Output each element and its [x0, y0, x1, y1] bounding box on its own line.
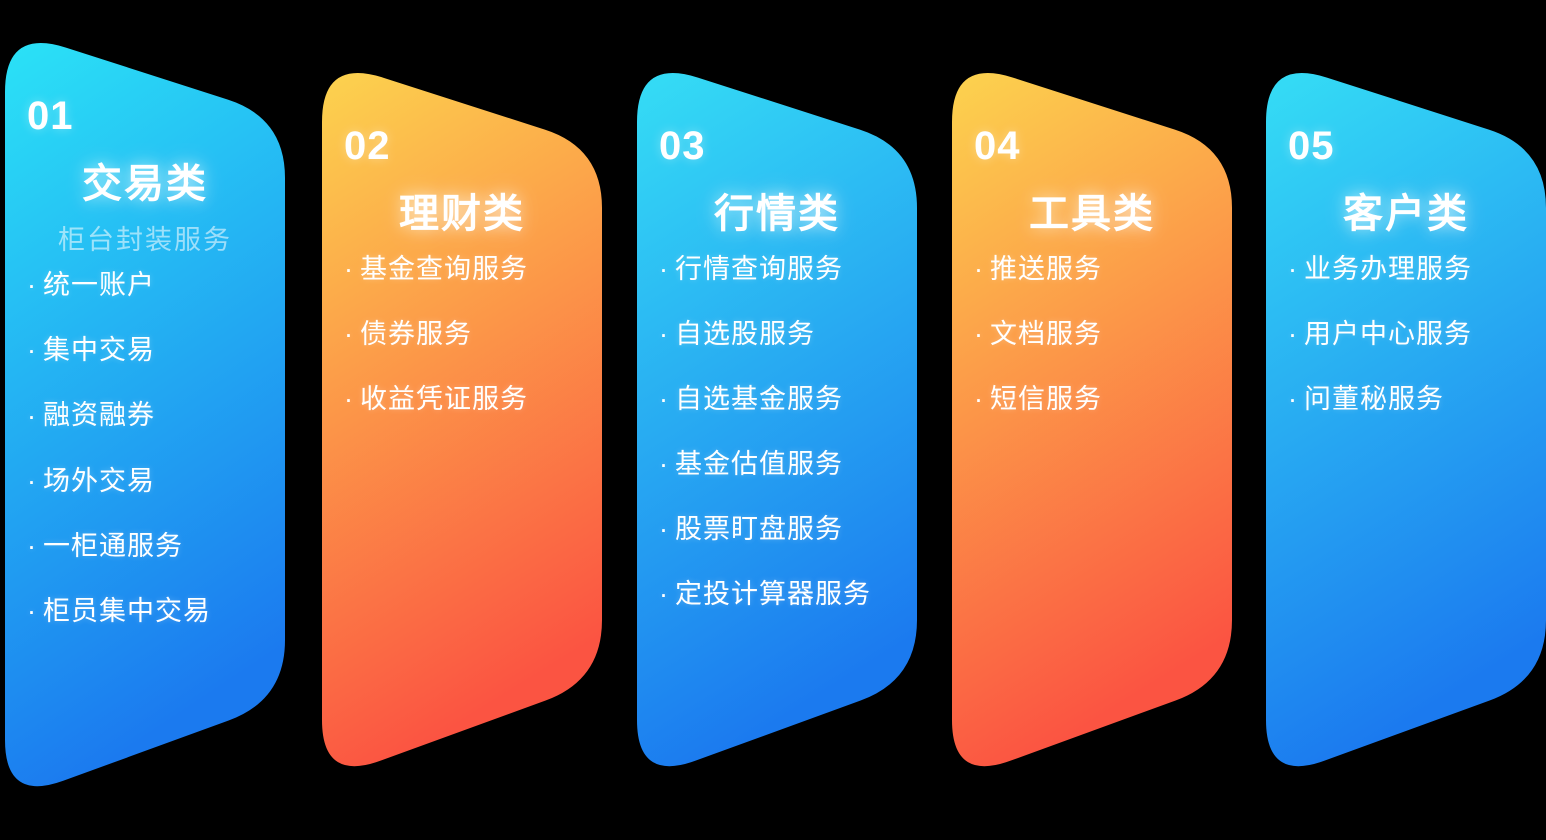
bullet-dot-icon: ·	[344, 256, 360, 283]
bullet-dot-icon: ·	[27, 468, 43, 495]
service-list-item[interactable]: ·收益凭证服务	[344, 384, 580, 415]
bullet-dot-icon: ·	[344, 386, 360, 413]
service-list-item[interactable]: ·自选基金服务	[659, 384, 895, 415]
service-list-item-label: 债券服务	[360, 319, 472, 350]
service-list-item-label: 自选股服务	[675, 319, 815, 350]
card-title: 行情类	[659, 192, 895, 236]
service-list-item-label: 场外交易	[43, 466, 155, 497]
service-list: ·业务办理服务·用户中心服务·问董秘服务	[1288, 254, 1524, 415]
bullet-dot-icon: ·	[27, 337, 43, 364]
service-list-item-label: 业务办理服务	[1304, 254, 1472, 285]
card-content: 05客户类·业务办理服务·用户中心服务·问董秘服务	[1266, 126, 1546, 415]
service-list-item[interactable]: ·集中交易	[27, 335, 263, 366]
bullet-dot-icon: ·	[659, 451, 675, 478]
bullet-dot-icon: ·	[27, 598, 43, 625]
service-list-item-label: 一柜通服务	[43, 531, 183, 562]
card-content: 02理财类·基金查询服务·债券服务·收益凭证服务	[322, 126, 602, 415]
category-card-04[interactable]: 04工具类·推送服务·文档服务·短信服务	[952, 0, 1232, 840]
service-list-item-label: 短信服务	[990, 384, 1102, 415]
category-card-03[interactable]: 03行情类·行情查询服务·自选股服务·自选基金服务·基金估值服务·股票盯盘服务·…	[637, 0, 917, 840]
card-title: 工具类	[974, 192, 1210, 236]
card-number: 02	[344, 126, 580, 166]
bullet-dot-icon: ·	[1288, 321, 1304, 348]
card-content: 01交易类柜台封装服务·统一账户·集中交易·融资融券·场外交易·一柜通服务·柜员…	[5, 96, 285, 627]
card-title: 理财类	[344, 192, 580, 236]
bullet-dot-icon: ·	[27, 403, 43, 430]
service-list-item-label: 融资融券	[43, 400, 155, 431]
bullet-dot-icon: ·	[659, 386, 675, 413]
service-list-item-label: 集中交易	[43, 335, 155, 366]
service-list-item[interactable]: ·问董秘服务	[1288, 384, 1524, 415]
bullet-dot-icon: ·	[1288, 386, 1304, 413]
category-card-05[interactable]: 05客户类·业务办理服务·用户中心服务·问董秘服务	[1266, 0, 1546, 840]
category-card-01[interactable]: 01交易类柜台封装服务·统一账户·集中交易·融资融券·场外交易·一柜通服务·柜员…	[5, 0, 285, 840]
service-list-item-label: 基金估值服务	[675, 449, 843, 480]
service-list-item-label: 收益凭证服务	[360, 384, 528, 415]
bullet-dot-icon: ·	[344, 321, 360, 348]
service-list-item[interactable]: ·一柜通服务	[27, 531, 263, 562]
service-list-item[interactable]: ·短信服务	[974, 384, 1210, 415]
service-list-item[interactable]: ·文档服务	[974, 319, 1210, 350]
service-list-item[interactable]: ·行情查询服务	[659, 254, 895, 285]
bullet-dot-icon: ·	[659, 516, 675, 543]
bullet-dot-icon: ·	[27, 272, 43, 299]
service-list: ·基金查询服务·债券服务·收益凭证服务	[344, 254, 580, 415]
service-list-item[interactable]: ·用户中心服务	[1288, 319, 1524, 350]
service-list-item[interactable]: ·场外交易	[27, 466, 263, 497]
card-number: 03	[659, 126, 895, 166]
bullet-dot-icon: ·	[27, 533, 43, 560]
service-list-item[interactable]: ·基金估值服务	[659, 449, 895, 480]
service-list: ·统一账户·集中交易·融资融券·场外交易·一柜通服务·柜员集中交易	[27, 270, 263, 626]
service-list: ·行情查询服务·自选股服务·自选基金服务·基金估值服务·股票盯盘服务·定投计算器…	[659, 254, 895, 610]
bullet-dot-icon: ·	[659, 321, 675, 348]
service-list-item-label: 文档服务	[990, 319, 1102, 350]
service-list-item[interactable]: ·定投计算器服务	[659, 579, 895, 610]
card-number: 05	[1288, 126, 1524, 166]
service-list-item[interactable]: ·基金查询服务	[344, 254, 580, 285]
service-list-item[interactable]: ·股票盯盘服务	[659, 514, 895, 545]
service-list-item-label: 统一账户	[43, 270, 155, 301]
service-list-item[interactable]: ·业务办理服务	[1288, 254, 1524, 285]
card-content: 03行情类·行情查询服务·自选股服务·自选基金服务·基金估值服务·股票盯盘服务·…	[637, 126, 917, 610]
card-title: 客户类	[1288, 192, 1524, 236]
service-list-item[interactable]: ·统一账户	[27, 270, 263, 301]
service-list-item-label: 问董秘服务	[1304, 384, 1444, 415]
bullet-dot-icon: ·	[974, 321, 990, 348]
card-title: 交易类	[27, 162, 263, 206]
service-list-item[interactable]: ·柜员集中交易	[27, 596, 263, 627]
service-list-item-label: 自选基金服务	[675, 384, 843, 415]
bullet-dot-icon: ·	[974, 386, 990, 413]
service-list-item[interactable]: ·债券服务	[344, 319, 580, 350]
category-card-02[interactable]: 02理财类·基金查询服务·债券服务·收益凭证服务	[322, 0, 602, 840]
service-list-item-label: 定投计算器服务	[675, 579, 871, 610]
service-list-item[interactable]: ·自选股服务	[659, 319, 895, 350]
card-number: 04	[974, 126, 1210, 166]
card-content: 04工具类·推送服务·文档服务·短信服务	[952, 126, 1232, 415]
service-list-item[interactable]: ·融资融券	[27, 400, 263, 431]
service-list-item-label: 行情查询服务	[675, 254, 843, 285]
service-list: ·推送服务·文档服务·短信服务	[974, 254, 1210, 415]
service-list-item-label: 柜员集中交易	[43, 596, 211, 627]
service-list-item-label: 股票盯盘服务	[675, 514, 843, 545]
bullet-dot-icon: ·	[1288, 256, 1304, 283]
bullet-dot-icon: ·	[659, 581, 675, 608]
service-list-item-label: 用户中心服务	[1304, 319, 1472, 350]
service-list-item-label: 基金查询服务	[360, 254, 528, 285]
service-list-item-label: 推送服务	[990, 254, 1102, 285]
card-number: 01	[27, 96, 263, 136]
infographic-canvas: 01交易类柜台封装服务·统一账户·集中交易·融资融券·场外交易·一柜通服务·柜员…	[0, 0, 1546, 840]
service-list-item[interactable]: ·推送服务	[974, 254, 1210, 285]
bullet-dot-icon: ·	[974, 256, 990, 283]
card-subtitle: 柜台封装服务	[27, 224, 263, 256]
bullet-dot-icon: ·	[659, 256, 675, 283]
